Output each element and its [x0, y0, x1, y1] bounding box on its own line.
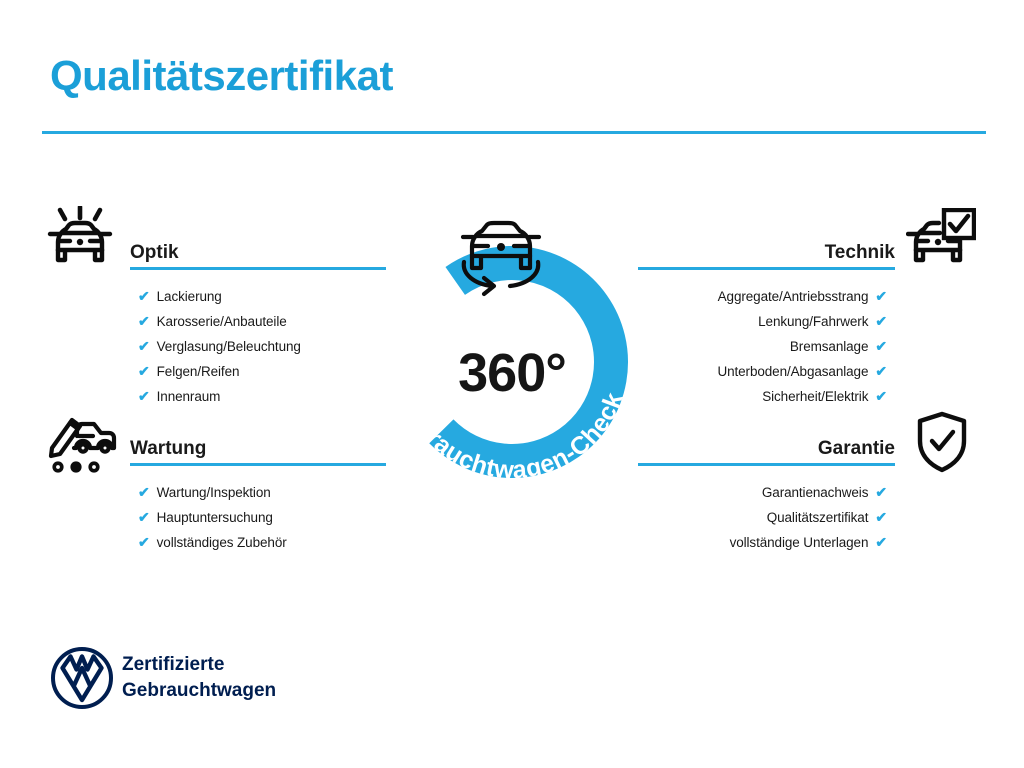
check-icon: ✔ [875, 534, 887, 550]
check-icon: ✔ [875, 484, 887, 500]
checklist-item: ✔Innenraum [138, 384, 301, 409]
check-icon: ✔ [138, 484, 150, 500]
section-garantie-header: Garantie [638, 432, 895, 466]
checklist-item: Sicherheit/Elektrik✔ [717, 384, 887, 409]
checklist-item: vollständige Unterlagen✔ [730, 530, 887, 555]
checklist-item-label: Hauptuntersuchung [157, 510, 273, 525]
check-icon: ✔ [138, 363, 150, 379]
check-icon: ✔ [875, 509, 887, 525]
checklist-item: ✔Karosserie/Anbauteile [138, 309, 301, 334]
checklist-item-label: Lenkung/Fahrwerk [758, 314, 868, 329]
car-checkbox-icon [906, 208, 976, 275]
checklist-item: ✔Verglasung/Beleuchtung [138, 334, 301, 359]
check-icon: ✔ [138, 534, 150, 550]
section-technik-header: Technik [638, 236, 895, 270]
vw-logo-line2: Gebrauchtwagen [122, 678, 276, 704]
checklist-item-label: Verglasung/Beleuchtung [157, 339, 301, 354]
section-wartung-title: Wartung [130, 438, 206, 460]
section-optik-divider [130, 267, 386, 270]
checklist-item-label: Lackierung [157, 289, 222, 304]
header-divider [42, 131, 986, 134]
section-wartung-divider [130, 463, 386, 466]
checklist-item-label: Garantienachweis [762, 485, 868, 500]
checklist-item-label: Felgen/Reifen [157, 364, 240, 379]
vw-logo-text: Zertifizierte Gebrauchtwagen [122, 652, 276, 704]
section-optik-title: Optik [130, 242, 179, 264]
checklist-item-label: Unterboden/Abgasanlage [717, 364, 868, 379]
checklist-item-label: vollständiges Zubehör [157, 535, 287, 550]
car-service-pen-icon [46, 414, 118, 481]
checklist-item: Lenkung/Fahrwerk✔ [717, 309, 887, 334]
checklist-item-label: Sicherheit/Elektrik [762, 389, 868, 404]
section-optik-list: ✔Lackierung✔Karosserie/Anbauteile✔Vergla… [138, 284, 301, 409]
checklist-item-label: Innenraum [157, 389, 221, 404]
section-technik-divider [638, 267, 895, 270]
check-icon: ✔ [138, 288, 150, 304]
checklist-item-label: Karosserie/Anbauteile [157, 314, 287, 329]
page-title: Qualitätszertifikat [50, 52, 393, 100]
section-wartung-header: Wartung [130, 432, 386, 466]
checklist-item: Garantienachweis✔ [730, 480, 887, 505]
checklist-item-label: Bremsanlage [790, 339, 868, 354]
check-icon: ✔ [875, 363, 887, 379]
check-icon: ✔ [138, 388, 150, 404]
certificate-page: Qualitätszertifikat [0, 0, 1024, 768]
check-icon: ✔ [138, 509, 150, 525]
checklist-item: ✔Hauptuntersuchung [138, 505, 287, 530]
section-garantie-title: Garantie [818, 438, 895, 460]
check-icon: ✔ [875, 288, 887, 304]
checklist-item-label: Aggregate/Antriebsstrang [718, 289, 869, 304]
vw-logo-line1: Zertifizierte [122, 652, 276, 678]
checklist-item: ✔vollständiges Zubehör [138, 530, 287, 555]
check-icon: ✔ [138, 313, 150, 329]
car-shine-icon [46, 206, 114, 277]
checklist-item: Aggregate/Antriebsstrang✔ [717, 284, 887, 309]
checklist-item: Unterboden/Abgasanlage✔ [717, 359, 887, 384]
vw-certified-logo: Zertifizierte Gebrauchtwagen [50, 646, 350, 716]
checklist-item: Qualitätszertifikat✔ [730, 505, 887, 530]
checklist-item-label: Wartung/Inspektion [157, 485, 271, 500]
checklist-item: ✔Felgen/Reifen [138, 359, 301, 384]
checklist-item: ✔Lackierung [138, 284, 301, 309]
check-icon: ✔ [875, 313, 887, 329]
section-garantie-list: Garantienachweis✔Qualitätszertifikat✔vol… [730, 480, 887, 555]
section-garantie-divider [638, 463, 895, 466]
check-icon: ✔ [875, 388, 887, 404]
vw-logo-icon [50, 646, 114, 715]
checklist-item-label: vollständige Unterlagen [730, 535, 869, 550]
check-icon: ✔ [138, 338, 150, 354]
section-wartung-list: ✔Wartung/Inspektion✔Hauptuntersuchung✔vo… [138, 480, 287, 555]
shield-check-icon [912, 410, 972, 479]
360-check-badge: Gebrauchtwagen-Check [372, 192, 652, 492]
checklist-item: ✔Wartung/Inspektion [138, 480, 287, 505]
section-technik-title: Technik [825, 242, 895, 264]
check-icon: ✔ [875, 338, 887, 354]
section-optik-header: Optik [130, 236, 386, 270]
badge-center-label: 360° [372, 342, 652, 404]
checklist-item-label: Qualitätszertifikat [767, 510, 869, 525]
section-technik-list: Aggregate/Antriebsstrang✔Lenkung/Fahrwer… [717, 284, 887, 409]
checklist-item: Bremsanlage✔ [717, 334, 887, 359]
